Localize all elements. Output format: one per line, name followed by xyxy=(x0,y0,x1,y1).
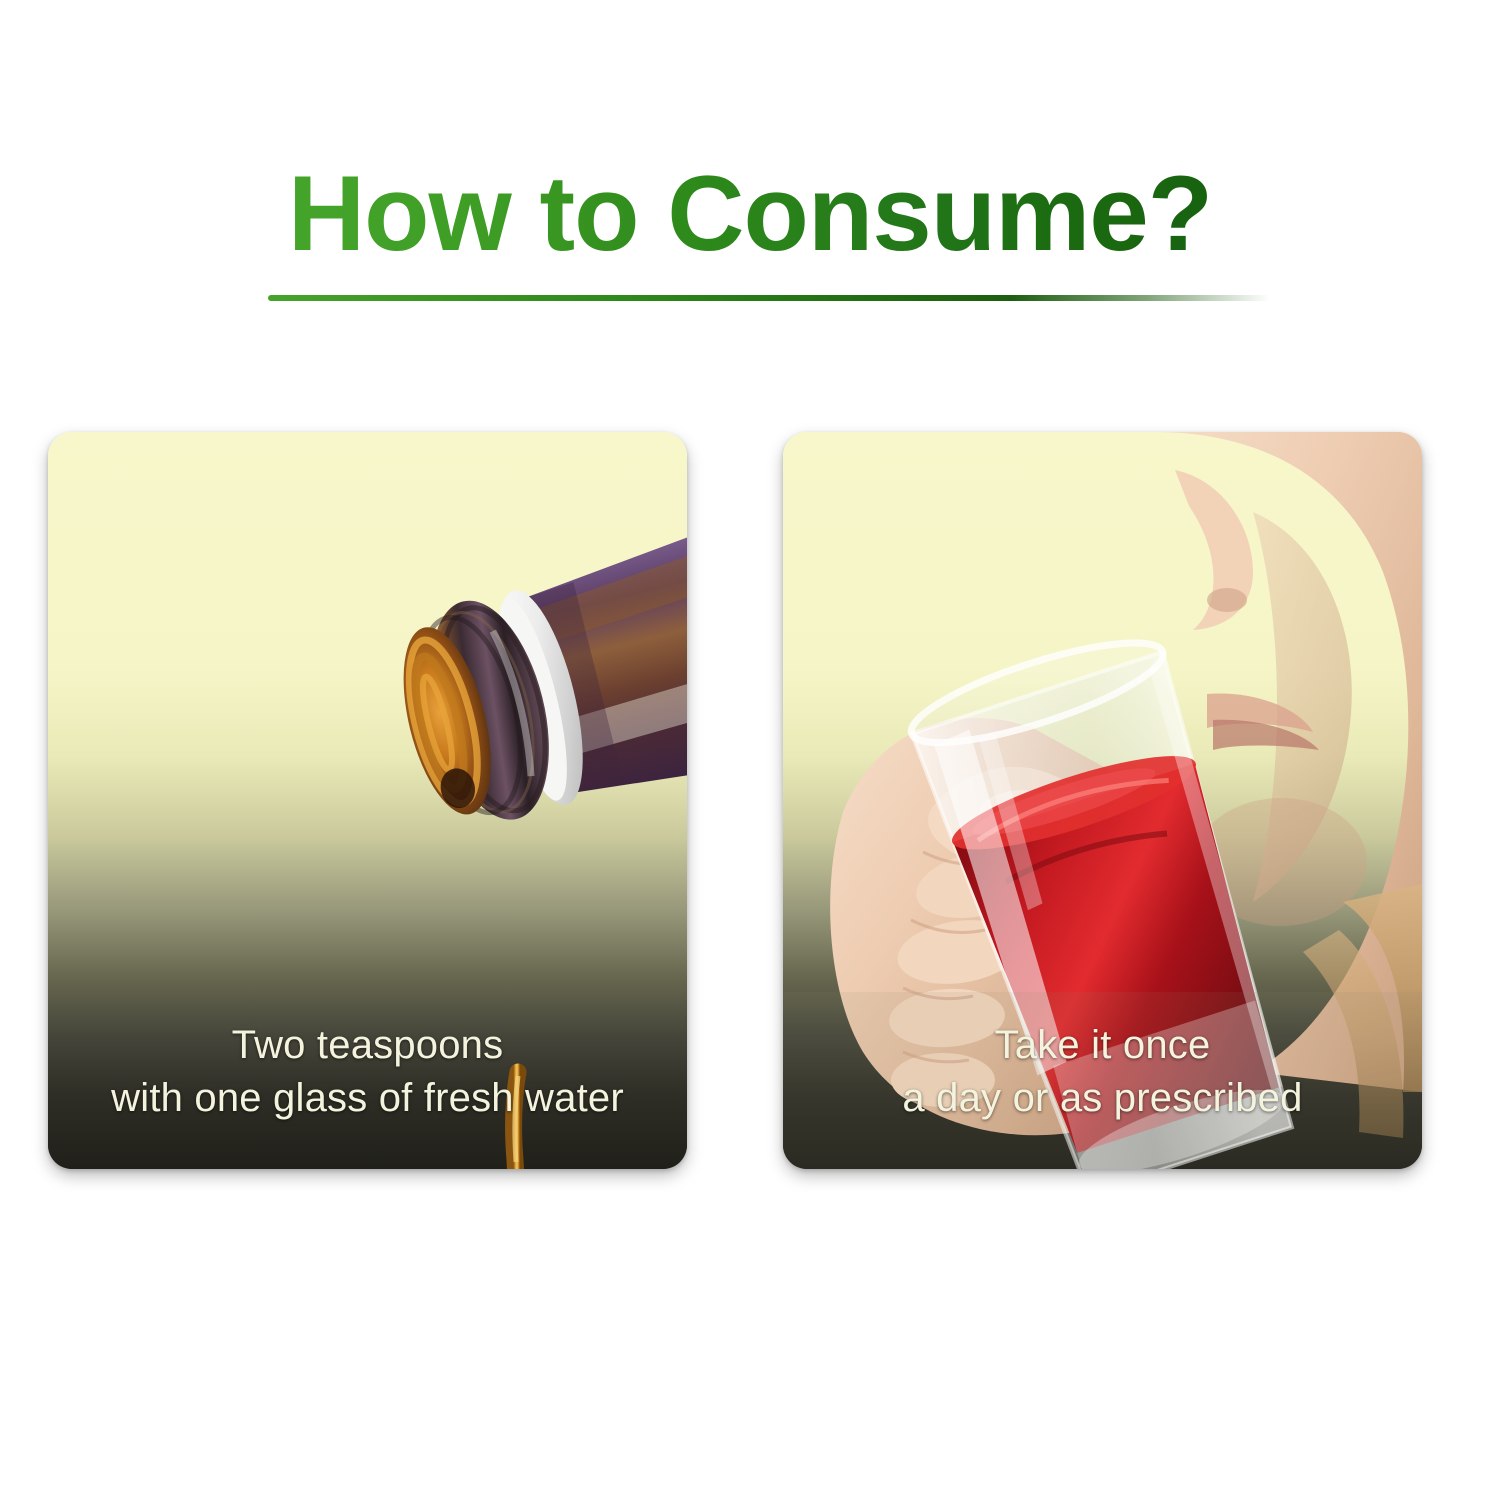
card-caption-line-1: Two teaspoons xyxy=(64,1019,671,1072)
card-caption-line-2: with one glass of fresh water xyxy=(64,1072,671,1125)
instruction-card-frequency: Take it once a day or as prescribed xyxy=(783,432,1422,1169)
card-caption-line-2: a day or as prescribed xyxy=(799,1072,1406,1125)
instruction-cards: Two teaspoons with one glass of fresh wa… xyxy=(0,0,1500,1500)
card-caption: Two teaspoons with one glass of fresh wa… xyxy=(48,1019,687,1125)
card-caption: Take it once a day or as prescribed xyxy=(783,1019,1422,1125)
card-caption-line-1: Take it once xyxy=(799,1019,1406,1072)
instruction-card-dosage: Two teaspoons with one glass of fresh wa… xyxy=(48,432,687,1169)
